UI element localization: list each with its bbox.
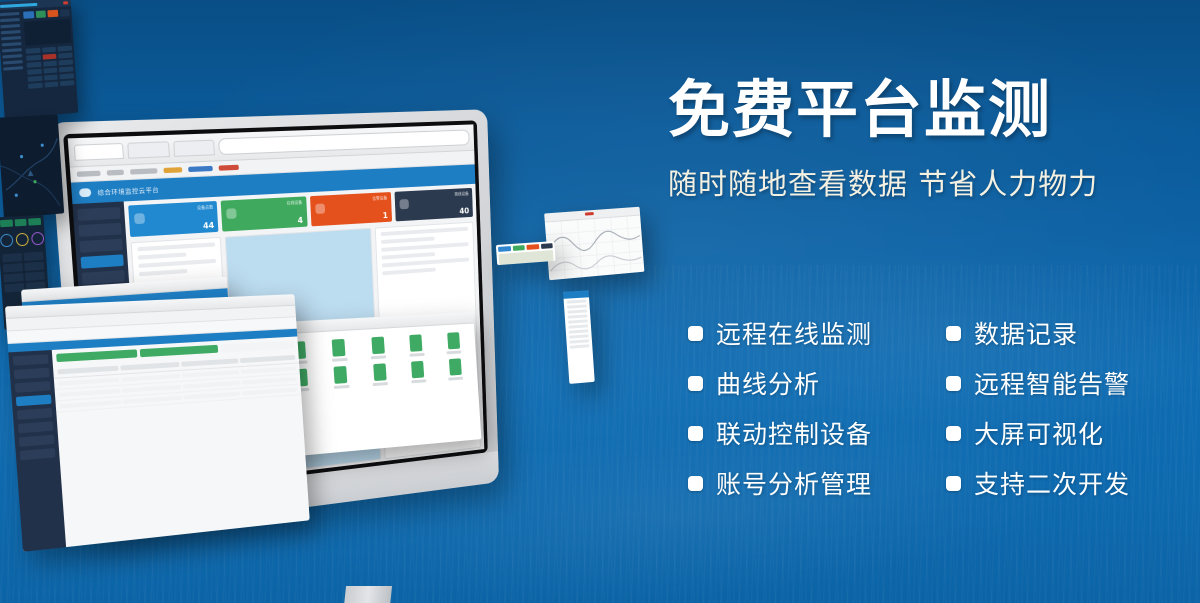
device-icon xyxy=(134,213,145,224)
map-route xyxy=(3,138,61,190)
dark-bigscreen-dashboard[interactable] xyxy=(0,0,78,119)
device-card[interactable] xyxy=(438,358,472,382)
feature-item-linkage-control[interactable]: 联动控制设备 xyxy=(688,415,946,451)
dark-tile-blue xyxy=(23,11,34,19)
detail-row xyxy=(381,237,435,244)
sidebar-item[interactable] xyxy=(20,448,56,460)
list-row xyxy=(139,269,188,276)
device-icon xyxy=(371,337,385,355)
dark-table-cell xyxy=(43,61,57,67)
dark-tile-green xyxy=(35,10,46,18)
device-card[interactable] xyxy=(401,360,435,384)
gauge-cell xyxy=(3,263,23,272)
table-window-content xyxy=(52,336,310,547)
dark-dashboard-title xyxy=(0,2,37,7)
gauge-cell xyxy=(4,273,24,282)
bullet-icon xyxy=(946,476,961,491)
device-label xyxy=(449,377,464,381)
feature-list: 远程在线监测 数据记录 曲线分析 远程智能告警 联动控制设备 大屏可视化 账号分… xyxy=(688,308,1158,508)
device-label xyxy=(332,358,348,362)
popup-tile-navy xyxy=(540,243,552,249)
dark-sidebar-item[interactable] xyxy=(2,48,22,52)
bullet-icon xyxy=(946,376,961,391)
map-node xyxy=(15,194,18,197)
dark-tile-navy xyxy=(59,9,69,17)
dark-table-cell-alert xyxy=(42,54,56,60)
browser-tab[interactable] xyxy=(173,139,215,156)
promo-banner: 综合环境监控云平台 xyxy=(0,0,1200,603)
map-node xyxy=(20,155,23,158)
map-node xyxy=(41,144,44,147)
dark-table-cell xyxy=(42,47,56,53)
dark-sidebar-item[interactable] xyxy=(2,42,22,46)
bookmark-item[interactable] xyxy=(219,165,239,171)
sidebar-item[interactable] xyxy=(13,354,49,365)
table-cell xyxy=(59,389,120,397)
device-label xyxy=(373,382,388,386)
mobile-list-row xyxy=(568,319,588,323)
device-label xyxy=(371,355,386,359)
page-subtitle: 随时随地查看数据 节省人力物力 xyxy=(668,161,1168,203)
device-card[interactable] xyxy=(360,336,395,360)
sidebar-item[interactable] xyxy=(79,239,122,253)
dark-sidebar-item[interactable] xyxy=(0,12,19,16)
gauge-dial-blue xyxy=(0,234,13,248)
mobile-list-row xyxy=(567,299,587,303)
mobile-list-row xyxy=(569,329,589,333)
gauge-dial-purple xyxy=(31,232,44,246)
detail-row xyxy=(382,268,436,276)
sidebar-item[interactable] xyxy=(18,421,54,433)
mobile-app-header xyxy=(563,290,589,298)
table-header-cell xyxy=(120,362,179,371)
dark-stat-tiles xyxy=(23,9,70,19)
dark-table-cell xyxy=(59,66,73,72)
stat-card-alarm[interactable]: 告警设备 1 xyxy=(310,192,392,226)
mobile-list-row xyxy=(568,324,588,328)
bullet-icon xyxy=(946,326,961,341)
feature-label: 曲线分析 xyxy=(716,365,820,401)
mobile-list-row xyxy=(569,339,589,343)
dark-sidebar-item[interactable] xyxy=(2,54,22,58)
map-node xyxy=(33,180,36,183)
mobile-list-row xyxy=(570,344,590,348)
table-cell xyxy=(242,388,297,396)
device-icon xyxy=(449,358,462,375)
stat-card-label: 在线设备 xyxy=(286,200,302,207)
gauge-top-tile xyxy=(14,219,27,227)
gauge-top-tile xyxy=(28,218,41,226)
sidebar-item[interactable] xyxy=(77,207,120,221)
bookmark-item[interactable] xyxy=(77,171,101,177)
bookmark-item[interactable] xyxy=(107,170,124,176)
table-header-cell xyxy=(57,366,118,375)
bell-icon xyxy=(315,203,325,214)
detail-row xyxy=(381,242,469,252)
bookmark-item[interactable] xyxy=(188,166,213,172)
feature-item-secondary-development[interactable]: 支持二次开发 xyxy=(946,465,1158,501)
bookmark-item[interactable] xyxy=(163,167,182,173)
data-table-browser-window[interactable] xyxy=(5,294,310,552)
chart-legend-marker xyxy=(585,212,594,216)
popup-tile-green xyxy=(512,245,525,251)
stat-card-label: 告警设备 xyxy=(372,195,387,202)
feature-item-curve-analysis[interactable]: 曲线分析 xyxy=(688,365,946,401)
device-icon xyxy=(373,363,387,381)
dark-table-cell xyxy=(26,48,41,54)
feature-label: 支持二次开发 xyxy=(974,465,1130,501)
dark-dashboard-body xyxy=(0,6,78,119)
cloud-logo-icon xyxy=(79,188,91,197)
table-header-cell xyxy=(240,355,295,363)
device-label xyxy=(411,379,426,383)
stat-card-label: 离线设备 xyxy=(454,191,468,198)
table-cell xyxy=(184,392,241,400)
platform-title: 综合环境监控云平台 xyxy=(97,184,159,196)
device-label xyxy=(409,353,424,357)
dark-table-cell xyxy=(58,53,72,59)
headline-block: 免费平台监测 随时随地查看数据 节省人力物力 xyxy=(668,78,1168,203)
page-title: 免费平台监测 xyxy=(668,78,1168,141)
gauge-cell xyxy=(24,262,44,271)
dark-sidebar-item[interactable] xyxy=(1,36,21,40)
feature-label: 远程智能告警 xyxy=(974,365,1130,401)
dark-dashboard-content xyxy=(21,6,78,117)
filter-tag[interactable] xyxy=(56,349,138,362)
device-card[interactable] xyxy=(321,338,357,362)
sidebar-item[interactable] xyxy=(82,270,125,284)
feature-item-bigscreen[interactable]: 大屏可视化 xyxy=(946,415,1158,451)
alert-badge xyxy=(63,1,68,4)
device-icon xyxy=(332,339,346,357)
chart-plot-area xyxy=(545,216,645,281)
dark-sidebar-item[interactable] xyxy=(1,30,21,34)
list-row xyxy=(138,259,216,268)
filter-tag[interactable] xyxy=(140,345,218,357)
gauge-top-tile xyxy=(0,220,13,228)
device-card[interactable] xyxy=(399,334,434,358)
dark-table-cell xyxy=(28,76,43,82)
stat-card-value: 40 xyxy=(459,206,469,215)
dark-sidebar-item[interactable] xyxy=(3,60,23,64)
dark-table-cell xyxy=(59,59,73,65)
leaf-icon xyxy=(226,208,237,219)
dark-table-cell xyxy=(60,80,74,86)
chart-window[interactable] xyxy=(544,207,644,280)
device-icon xyxy=(411,361,424,379)
detail-row xyxy=(380,227,468,236)
map-marker xyxy=(27,170,33,176)
device-card[interactable] xyxy=(362,363,397,387)
sidebar-item[interactable] xyxy=(17,408,53,420)
feature-item-data-record[interactable]: 数据记录 xyxy=(946,315,1158,351)
bullet-icon xyxy=(688,426,703,441)
map-svg xyxy=(0,114,64,218)
feature-label: 联动控制设备 xyxy=(716,415,872,451)
feature-label: 远程在线监测 xyxy=(716,315,872,351)
dark-table-cell xyxy=(44,75,58,81)
bullet-icon xyxy=(688,376,703,391)
popup-tile-orange xyxy=(526,244,538,250)
stat-card-value: 4 xyxy=(297,216,303,225)
device-label xyxy=(334,385,350,389)
bookmark-item[interactable] xyxy=(130,168,158,174)
mobile-list-row xyxy=(567,304,587,308)
list-row xyxy=(137,242,215,251)
gauge-cell xyxy=(24,252,44,261)
stat-card-label: 设备总数 xyxy=(197,204,214,211)
dark-table-cell xyxy=(60,73,74,79)
table-cell xyxy=(182,370,239,378)
stat-card-total[interactable]: 设备总数 44 xyxy=(128,201,219,237)
gauge-cell xyxy=(2,253,22,262)
gauge-cell xyxy=(25,272,45,281)
dark-table-cell xyxy=(27,62,42,68)
dark-tile-orange xyxy=(47,10,58,18)
monitor-stand-neck xyxy=(340,586,392,603)
feature-label: 大屏可视化 xyxy=(974,415,1104,451)
line-chart-svg xyxy=(545,216,645,281)
feature-item-remote-monitor[interactable]: 远程在线监测 xyxy=(688,315,946,351)
stat-card-value: 1 xyxy=(383,211,389,220)
map-dark-panel[interactable] xyxy=(0,114,64,218)
dark-table-cell xyxy=(43,68,57,74)
sidebar-item[interactable] xyxy=(19,435,55,447)
dark-sidebar-item[interactable] xyxy=(0,18,20,22)
bullet-icon xyxy=(688,476,703,491)
device-card[interactable] xyxy=(323,365,359,390)
dark-table-cell xyxy=(58,46,72,52)
table-cell xyxy=(121,374,180,382)
map-route xyxy=(0,162,59,210)
mobile-list-row xyxy=(567,309,587,313)
table-cell xyxy=(241,377,296,385)
stat-card-value: 44 xyxy=(203,221,215,231)
bullet-icon xyxy=(946,426,961,441)
dark-table-cell xyxy=(44,81,58,87)
detail-row xyxy=(381,252,435,260)
dark-data-table[interactable] xyxy=(26,46,75,89)
browser-address-bar[interactable] xyxy=(218,129,470,155)
dark-table-cell xyxy=(26,55,41,61)
feature-item-smart-alarm[interactable]: 远程智能告警 xyxy=(946,365,1158,401)
list-row xyxy=(138,252,187,259)
sidebar-item-active[interactable] xyxy=(81,254,124,268)
table-cell xyxy=(58,378,119,386)
dark-table-cell xyxy=(27,69,42,75)
dark-map-thumb[interactable] xyxy=(24,19,72,46)
device-label xyxy=(447,350,462,354)
device-icon xyxy=(447,332,460,349)
popup-tile-blue xyxy=(498,246,511,252)
table-cell xyxy=(123,396,182,404)
mobile-list-row xyxy=(568,314,588,318)
feature-label: 账号分析管理 xyxy=(716,465,872,501)
table-cell xyxy=(60,400,121,408)
sidebar-item[interactable] xyxy=(15,381,51,393)
table-cell xyxy=(122,385,181,393)
stat-card-online[interactable]: 在线设备 4 xyxy=(221,196,307,231)
dark-sidebar-item[interactable] xyxy=(3,66,23,70)
stat-card-offline[interactable]: 离线设备 40 xyxy=(394,188,473,222)
table-cell xyxy=(241,366,296,373)
sidebar-item[interactable] xyxy=(14,368,50,379)
mobile-list-row xyxy=(569,334,589,338)
browser-tab[interactable] xyxy=(74,142,124,160)
dark-sidebar-item[interactable] xyxy=(0,24,20,28)
bullet-icon xyxy=(688,326,703,341)
feature-item-account-management[interactable]: 账号分析管理 xyxy=(688,465,946,501)
sidebar-item-active[interactable] xyxy=(16,395,52,407)
chart-gridlines xyxy=(545,216,645,281)
offline-icon xyxy=(399,199,409,209)
table-cell xyxy=(183,381,240,389)
gauge-dial-yellow xyxy=(15,233,28,247)
device-card[interactable] xyxy=(437,332,471,355)
sidebar-item[interactable] xyxy=(78,223,121,237)
device-icon xyxy=(334,366,348,384)
feature-label: 数据记录 xyxy=(974,315,1078,351)
filter-tag-empty[interactable] xyxy=(220,340,294,352)
table-header-cell xyxy=(181,358,238,366)
dark-table-cell xyxy=(28,83,43,89)
browser-tab[interactable] xyxy=(127,141,170,158)
detail-row xyxy=(382,257,469,267)
device-icon xyxy=(409,334,422,351)
